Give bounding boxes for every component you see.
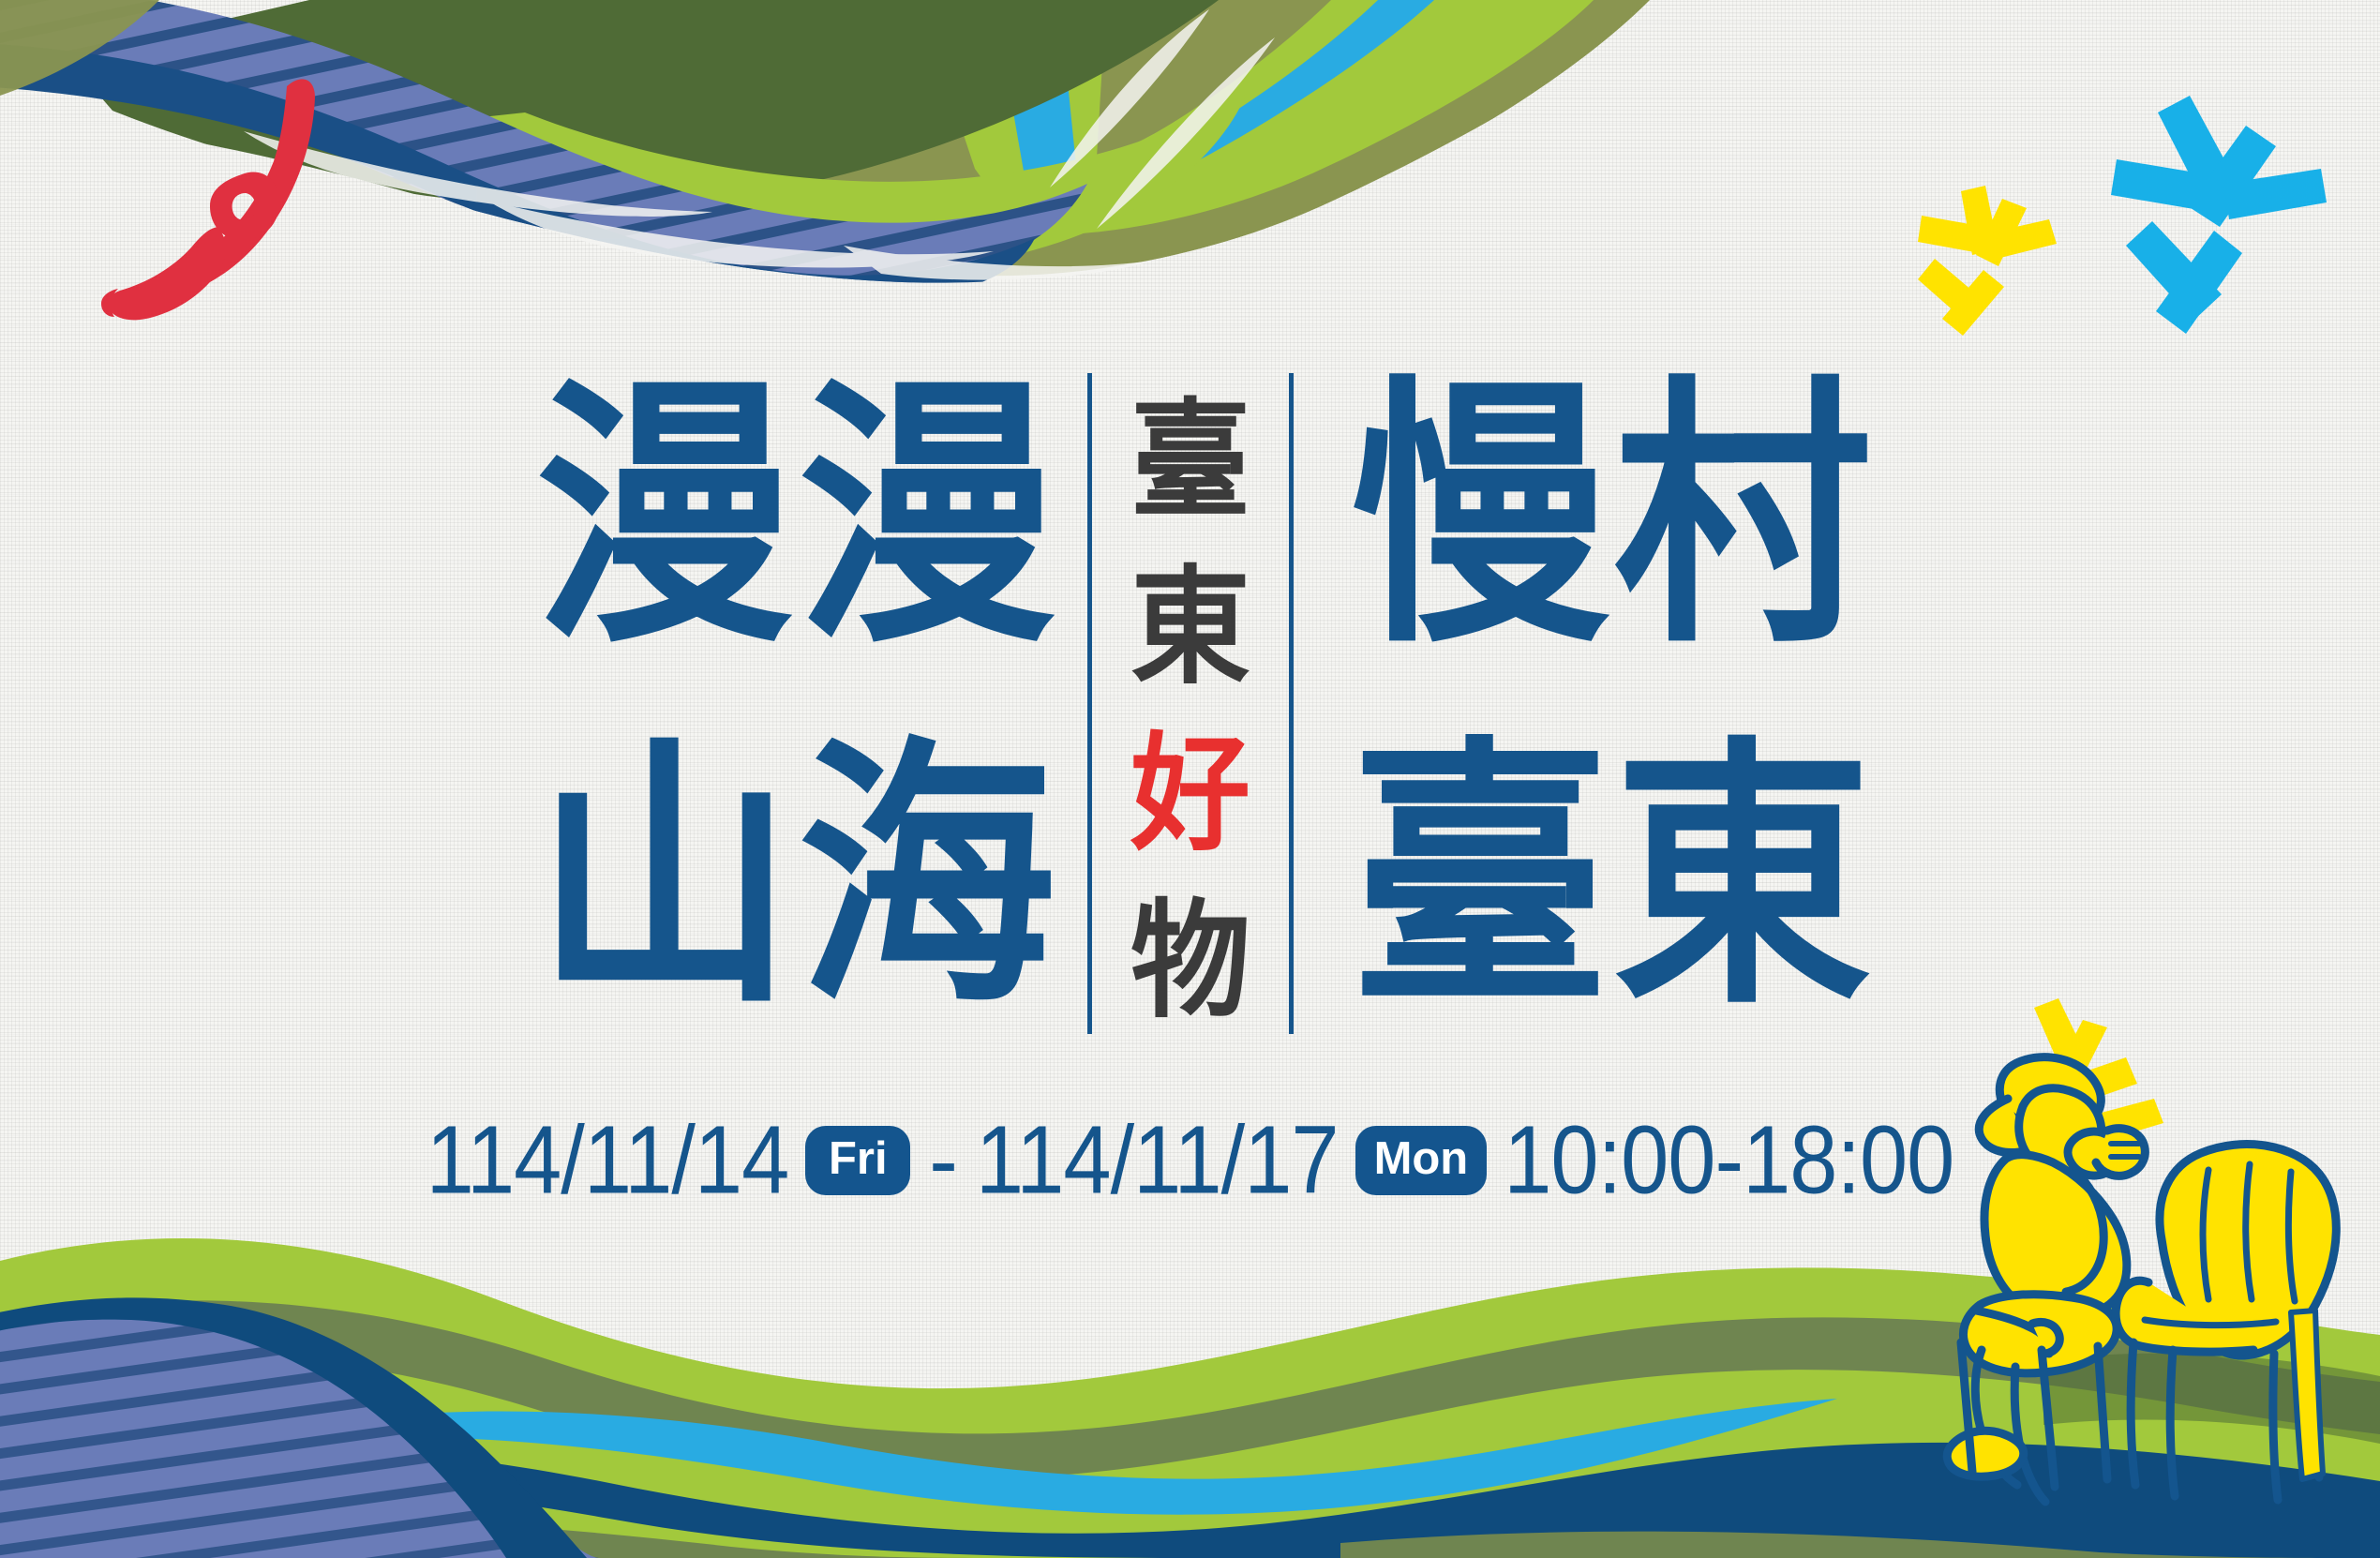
poster-canvas: 漫 漫 山 海 臺 東 好 物 慢 村 臺 東 114/11/14 bbox=[0, 0, 2380, 1558]
event-date-bar: 114/11/14 Fri - 114/11/17 Mon 10:00-18:0… bbox=[0, 1117, 2380, 1204]
end-date: 114/11/17 bbox=[976, 1112, 1339, 1208]
start-date: 114/11/14 bbox=[427, 1112, 789, 1208]
date-separator: - bbox=[927, 1113, 959, 1207]
start-day-badge: Fri bbox=[805, 1126, 910, 1195]
time-range: 10:00-18:00 bbox=[1504, 1112, 1953, 1208]
bottom-right-illustration bbox=[0, 0, 2380, 1558]
end-day-badge: Mon bbox=[1355, 1126, 1488, 1195]
